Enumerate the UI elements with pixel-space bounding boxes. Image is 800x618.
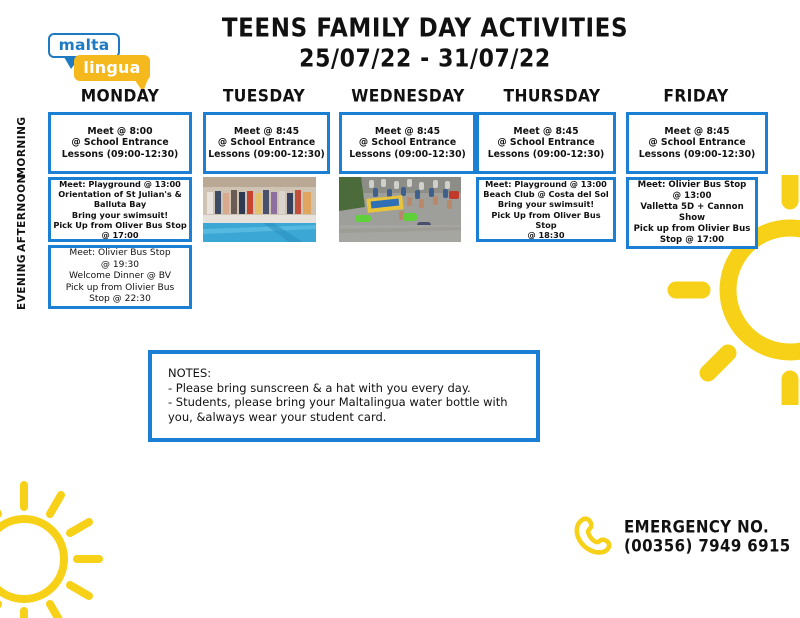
cell-text: Meet: Playground @ 13:00Orientation of S… xyxy=(51,179,189,240)
notes-line-2: - Students, please bring your Maltalingu… xyxy=(168,395,522,410)
emergency-contact: EMERGENCY NO. (00356) 7949 6915 xyxy=(572,508,794,564)
cell-text: Meet @ 8:00@ School EntranceLessons (09:… xyxy=(51,126,189,161)
cell-text: Meet: Playground @ 13:00Beach Club @ Cos… xyxy=(479,179,613,240)
phone-icon xyxy=(572,514,616,558)
day-header-monday: MONDAY xyxy=(48,86,192,110)
cell-text: Meet: Olivier Bus Stop@ 19:30Welcome Din… xyxy=(51,248,189,306)
day-header-wednesday: WEDNESDAY xyxy=(336,86,480,110)
page-title: TEENS FAMILY DAY ACTIVITIES 25/07/22 - 3… xyxy=(190,14,660,71)
emergency-text: EMERGENCY NO. (00356) 7949 6915 xyxy=(624,517,791,555)
cell-friday-afternoon[interactable]: Meet: Olivier Bus Stop@ 13:00Valletta 5D… xyxy=(626,177,758,249)
logo-text-lingua: lingua xyxy=(76,57,148,79)
cell-text: Meet @ 8:45@ School EntranceLessons (09:… xyxy=(206,126,327,161)
cell-text: Meet @ 8:45@ School EntranceLessons (09:… xyxy=(479,126,613,161)
row-label-afternoon: AFTERNOON xyxy=(16,174,32,252)
cell-thursday-afternoon[interactable]: Meet: Playground @ 13:00Beach Club @ Cos… xyxy=(476,177,616,242)
cell-tuesday-afternoon-photo[interactable] xyxy=(203,177,316,242)
emergency-number: (00356) 7949 6915 xyxy=(624,536,791,557)
cell-text: Meet: Olivier Bus Stop@ 13:00Valletta 5D… xyxy=(629,180,755,246)
logo-text-malta: malta xyxy=(50,35,118,56)
aerial-crowd-photo xyxy=(339,177,461,242)
cell-wednesday-morning[interactable]: Meet @ 8:45@ School EntranceLessons (09:… xyxy=(339,112,476,174)
emergency-label: EMERGENCY NO. xyxy=(624,517,791,538)
logo-bubble-lingua: lingua xyxy=(74,55,150,81)
sun-icon-bottom-left xyxy=(0,471,127,618)
cell-monday-morning[interactable]: Meet @ 8:00@ School EntranceLessons (09:… xyxy=(48,112,192,174)
title-date-range: 25/07/22 - 31/07/22 xyxy=(190,44,660,74)
flyer-page: malta lingua TEENS FAMILY DAY ACTIVITIES… xyxy=(0,0,800,618)
cell-text: Meet @ 8:45@ School EntranceLessons (09:… xyxy=(342,126,473,161)
maltalingua-logo: malta lingua xyxy=(42,33,150,83)
cell-monday-evening[interactable]: Meet: Olivier Bus Stop@ 19:30Welcome Din… xyxy=(48,245,192,309)
cell-wednesday-afternoon-photo[interactable] xyxy=(339,177,461,242)
day-header-tuesday: TUESDAY xyxy=(192,86,336,110)
row-label-morning: MORNING xyxy=(16,112,32,182)
cell-monday-afternoon[interactable]: Meet: Playground @ 13:00Orientation of S… xyxy=(48,177,192,242)
title-main: TEENS FAMILY DAY ACTIVITIES xyxy=(190,14,660,44)
notes-line-1: - Please bring sunscreen & a hat with yo… xyxy=(168,381,522,396)
notes-box: NOTES: - Please bring sunscreen & a hat … xyxy=(148,350,540,442)
cell-friday-morning[interactable]: Meet @ 8:45@ School EntranceLessons (09:… xyxy=(626,112,768,174)
row-label-evening: EVENING xyxy=(16,246,32,318)
cell-thursday-morning[interactable]: Meet @ 8:45@ School EntranceLessons (09:… xyxy=(476,112,616,174)
notes-heading: NOTES: xyxy=(168,366,522,381)
cell-tuesday-morning[interactable]: Meet @ 8:45@ School EntranceLessons (09:… xyxy=(203,112,330,174)
notes-line-3: you, &always wear your student card. xyxy=(168,410,522,425)
cell-text: Meet @ 8:45@ School EntranceLessons (09:… xyxy=(629,126,765,161)
day-header-thursday: THURSDAY xyxy=(480,86,624,110)
day-header-friday: FRIDAY xyxy=(624,86,768,110)
day-header-row: MONDAY TUESDAY WEDNESDAY THURSDAY FRIDAY xyxy=(48,86,768,108)
group-photo-poolside xyxy=(203,177,316,242)
